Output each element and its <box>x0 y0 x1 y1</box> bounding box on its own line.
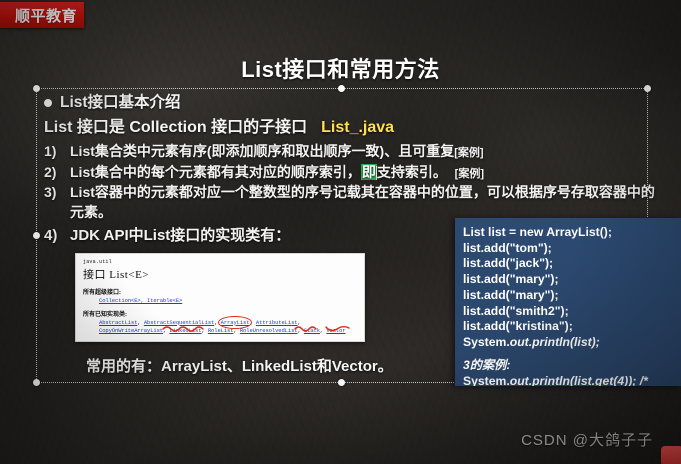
list-item-2-text: List集合中的每个元素都有其对应的顺序索引，即支持索引。 [案例] <box>70 163 664 183</box>
code-sample-panel: List list = new ArrayList(); list.add("t… <box>455 218 681 386</box>
code-blank-line <box>463 351 681 358</box>
api-interface-heading: 接口 List<E> <box>83 266 357 282</box>
resize-handle-bottom-left[interactable] <box>33 379 40 386</box>
bullet-dot-icon <box>44 99 52 107</box>
api-implementors-row-2: CopyOnWriteArrayList, LinkedList, RoleLi… <box>99 327 357 336</box>
api-superinterfaces-label: 所有超级接口: <box>83 287 357 296</box>
section-heading: List接口基本介绍 <box>44 92 664 114</box>
api-link-rolelist: RoleList <box>208 327 234 334</box>
resize-handle-top-center[interactable] <box>338 85 345 92</box>
api-link-stack: Stack <box>304 327 320 334</box>
list-item-3-number: 3) <box>44 183 70 223</box>
api-link-abstractlist: AbstractList <box>99 319 137 326</box>
code-line-2: list.add("tom"); <box>463 241 681 257</box>
brand-banner-label: 顺平教育 <box>15 5 77 26</box>
resize-handle-top-left[interactable] <box>33 85 40 92</box>
list-item-1-number: 1) <box>44 142 70 162</box>
code-comment-label: 3的案例: <box>463 358 681 374</box>
api-link-arraylist: ArrayList <box>221 319 250 328</box>
list-item-1: 1) List集合类中元素有序(即添加顺序和取出顺序一致)、且可重复[案例] <box>44 142 664 162</box>
list-item-1-text: List集合类中元素有序(即添加顺序和取出顺序一致)、且可重复[案例] <box>70 142 664 162</box>
selected-character-highlight: 即 <box>361 164 377 180</box>
resize-handle-top-right[interactable] <box>644 85 651 92</box>
lead-file-tag: List_.java <box>321 119 394 136</box>
api-implementors-row-1: AbstractList, AbstractSequentialList, Ar… <box>99 319 357 328</box>
lead-line: List 接口是 Collection 接口的子接口List_.java <box>44 117 664 140</box>
api-superinterfaces-links: Collection<E>, Iterable<E> <box>99 297 357 306</box>
slide-canvas: 顺平教育 List接口和常用方法 List接口基本介绍 List 接口是 Col… <box>0 0 681 464</box>
list-item-4-number: 4) <box>44 225 70 246</box>
list-item-2-case-tag: [案例] <box>455 168 484 180</box>
code-line-1: List list = new ArrayList(); <box>463 225 681 241</box>
list-item-1-case-tag: [案例] <box>454 147 483 159</box>
resize-handle-middle-left[interactable] <box>33 232 40 239</box>
brand-banner: 顺平教育 <box>0 2 84 28</box>
code-last-line: System.out.println(list.get(4)); /* <box>463 374 681 386</box>
list-item-2-number: 2) <box>44 163 70 183</box>
code-line-3: list.add("jack"); <box>463 256 681 272</box>
api-link-linkedlist: LinkedList <box>169 327 201 334</box>
list-item-2: 2) List集合中的每个元素都有其对应的顺序索引，即支持索引。 [案例] <box>44 163 664 183</box>
code-line-6: list.add("smith2"); <box>463 304 681 320</box>
code-line-7: list.add("kristina"); <box>463 319 681 335</box>
api-implementors-links: AbstractList, AbstractSequentialList, Ar… <box>99 319 357 336</box>
api-package-label: java.util <box>83 259 357 265</box>
code-line-4: list.add("mary"); <box>463 272 681 288</box>
api-implementors-label: 所有已知实现类: <box>83 309 357 318</box>
java-api-doc-image: java.util 接口 List<E> 所有超级接口: Collection<… <box>75 253 365 342</box>
api-link-attributelist: AttributeList <box>256 319 298 326</box>
resize-handle-bottom-center[interactable] <box>338 379 345 386</box>
code-line-8: System.out.println(list); <box>463 335 681 351</box>
section-heading-label: List接口基本介绍 <box>60 92 181 114</box>
api-link-vector: Vector <box>326 327 345 334</box>
api-link-roleunresolvedlist: RoleUnresolvedList <box>240 327 298 334</box>
api-link-abstractsequentiallist: AbstractSequentialList <box>144 319 214 326</box>
api-link-copyonwritearraylist: CopyOnWriteArrayList <box>99 327 163 334</box>
common-classes-line: 常用的有：ArrayList、LinkedList和Vector。 <box>86 355 393 376</box>
slide-title: List接口和常用方法 <box>0 52 681 84</box>
csdn-watermark: CSDN @大鸽子子 <box>521 429 653 450</box>
lead-line-text: List 接口是 Collection 接口的子接口 <box>44 119 307 136</box>
code-line-5: list.add("mary"); <box>463 288 681 304</box>
corner-red-chip <box>661 446 681 464</box>
